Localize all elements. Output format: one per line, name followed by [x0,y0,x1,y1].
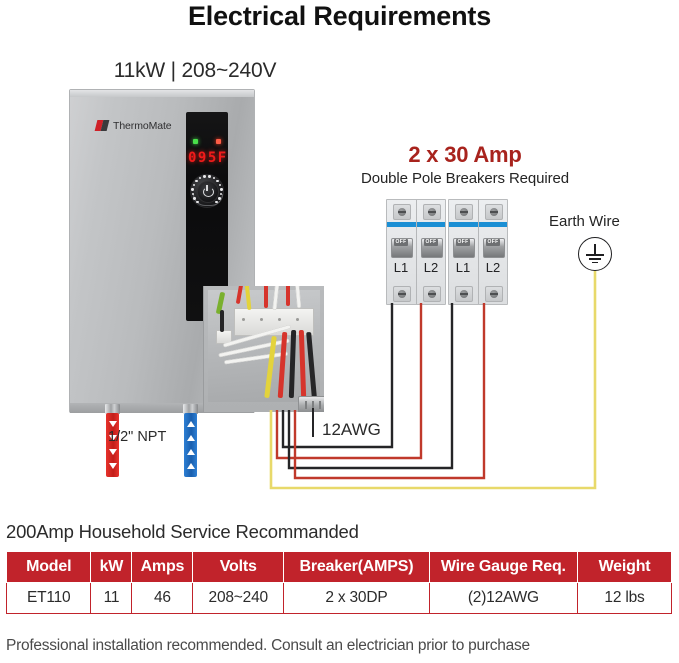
wire-run-red-2 [295,303,484,478]
column-header-model: Model [7,552,91,583]
column-header-breaker: Breaker(AMPS) [284,552,430,583]
table-row: ET110 11 46 208~240 2 x 30DP (2)12AWG 12… [7,583,672,614]
wire-run-earth-yellow [271,271,595,488]
cell-amps: 46 [132,583,193,614]
cell-weight: 12 lbs [577,583,671,614]
cell-kw: 11 [91,583,132,614]
service-recommendation: 200Amp Household Service Recommanded [6,521,359,543]
cell-breaker: 2 x 30DP [284,583,430,614]
column-header-volts: Volts [193,552,284,583]
column-header-kw: kW [91,552,132,583]
table-header-row: Model kW Amps Volts Breaker(AMPS) Wire G… [7,552,672,583]
specification-table: Model kW Amps Volts Breaker(AMPS) Wire G… [6,551,672,614]
column-header-wire-gauge: Wire Gauge Req. [429,552,577,583]
cell-volts: 208~240 [193,583,284,614]
cell-model: ET110 [7,583,91,614]
electrical-requirements-diagram: Electrical Requirements 11kW | 208~240V … [0,0,679,663]
installation-footnote: Professional installation recommended. C… [6,637,530,655]
wire-gauge-callout: 12AWG [322,420,381,440]
column-header-weight: Weight [577,552,671,583]
column-header-amps: Amps [132,552,193,583]
cell-wire-gauge: (2)12AWG [429,583,577,614]
wire-run-black-2 [289,303,452,468]
